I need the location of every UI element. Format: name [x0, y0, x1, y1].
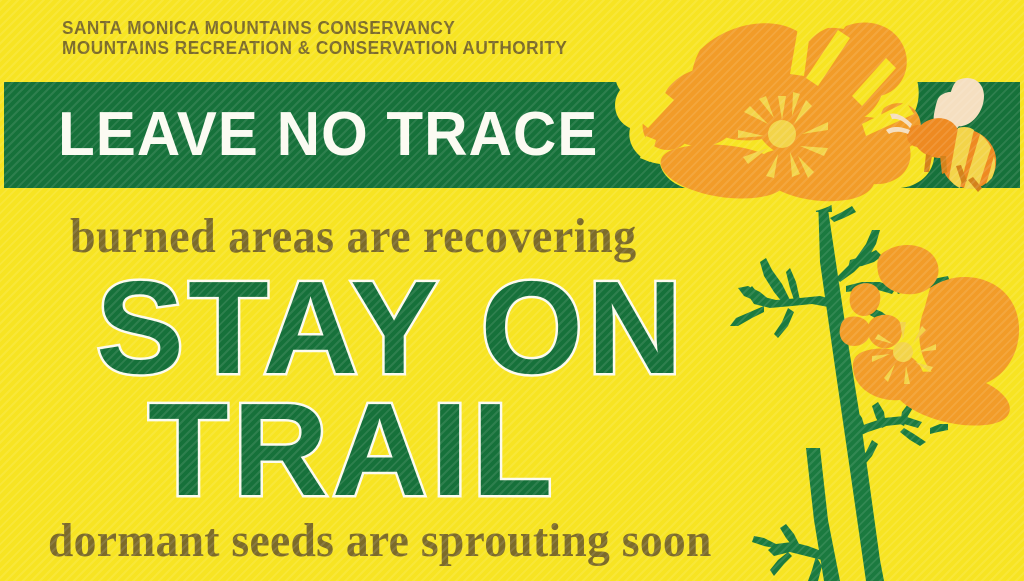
agency-line-1: SANTA MONICA MOUNTAINS CONSERVANCY — [62, 18, 567, 38]
poppy-leaf-upper-left — [730, 258, 836, 338]
sub-message-bottom: dormant seeds are sprouting soon — [48, 513, 712, 568]
poppy-leaf-lower — [752, 524, 824, 581]
headline-line-2: TRAIL — [148, 384, 557, 516]
poppy-small-stamen — [872, 322, 936, 384]
leave-no-trace-poster: SANTA MONICA MOUNTAINS CONSERVANCY MOUNT… — [0, 0, 1024, 581]
poppy-stem-second — [806, 448, 840, 581]
agency-line-2: MOUNTAINS RECREATION & CONSERVATION AUTH… — [62, 38, 567, 58]
poppy-leaf-sprig-top — [830, 206, 856, 222]
poppy-leaf-mid-right — [842, 398, 948, 468]
headline-line-1: STAY ON — [96, 262, 686, 394]
agency-header: SANTA MONICA MOUNTAINS CONSERVANCY MOUNT… — [62, 18, 605, 58]
poppy-leaf-upper-right — [836, 230, 950, 322]
california-poppy-small — [840, 245, 1019, 426]
poppy-stem-main — [811, 184, 884, 581]
banner-title: LEAVE NO TRACE — [58, 88, 598, 182]
